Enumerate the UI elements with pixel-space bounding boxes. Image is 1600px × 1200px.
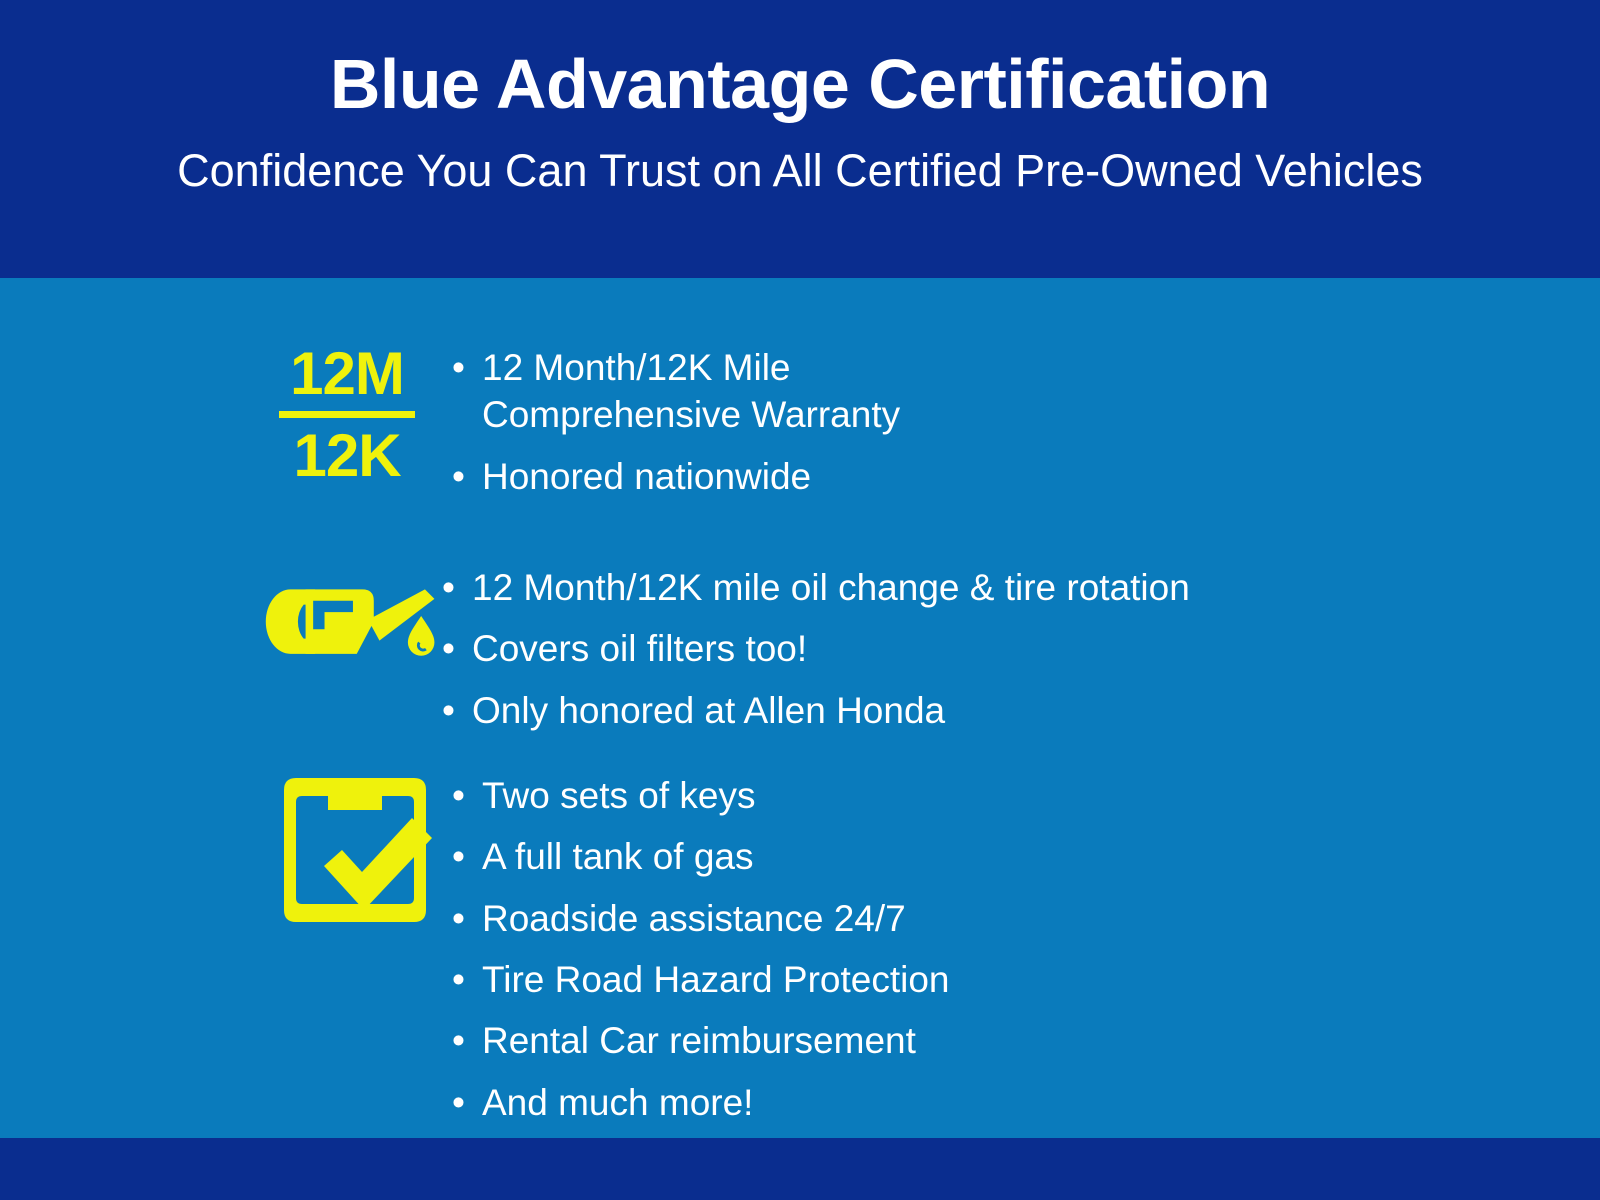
list-item-label: 12 Month/12K Mile Comprehensive Warranty [482,344,900,439]
feature-warranty-icon-cell: 12M 12K [272,340,452,486]
list-item: • 12 Month/12K Mile Comprehensive Warran… [452,344,900,439]
feature-extras-icon-cell [272,768,452,933]
fraction-denominator-label: 12K [293,426,400,486]
list-item: • Rental Car reimbursement [452,1017,950,1064]
list-item-label: 12 Month/12K mile oil change & tire rota… [472,564,1190,611]
list-item-label: Only honored at Allen Honda [472,687,945,734]
features-section: 12M 12K • 12 Month/12K Mile Comprehensiv… [0,278,1600,1138]
fraction-divider-line [279,411,415,418]
list-item: • And much more! [452,1079,950,1126]
bullet-marker: • [452,772,482,819]
list-item: • Covers oil filters too! [442,625,1190,672]
bullet-marker: • [452,344,482,391]
feature-extras-bullets: • Two sets of keys • A full tank of gas … [452,768,950,1140]
list-item: • A full tank of gas [452,833,950,880]
list-item: • Two sets of keys [452,772,950,819]
bullet-marker: • [442,564,472,611]
feature-extras: • Two sets of keys • A full tank of gas … [272,768,950,1140]
header-banner: Blue Advantage Certification Confidence … [0,0,1600,278]
list-item: • Tire Road Hazard Protection [452,956,950,1003]
feature-warranty: 12M 12K • 12 Month/12K Mile Comprehensiv… [272,340,900,514]
list-item-label: And much more! [482,1079,753,1126]
list-item-label: A full tank of gas [482,833,754,880]
bullet-marker: • [452,833,482,880]
list-item-label: Tire Road Hazard Protection [482,956,950,1003]
list-item-label: Two sets of keys [482,772,756,819]
feature-oil-change: • 12 Month/12K mile oil change & tire ro… [262,560,1190,748]
bullet-marker: • [452,1079,482,1126]
bullet-marker: • [442,625,472,672]
page-subtitle: Confidence You Can Trust on All Certifie… [177,146,1423,196]
list-item: • Honored nationwide [452,453,900,500]
footer-banner [0,1138,1600,1200]
bullet-marker: • [452,895,482,942]
feature-oil-change-bullets: • 12 Month/12K mile oil change & tire ro… [442,560,1190,748]
feature-warranty-bullets: • 12 Month/12K Mile Comprehensive Warran… [452,340,900,514]
list-item-label: Roadside assistance 24/7 [482,895,906,942]
page-title: Blue Advantage Certification [330,48,1270,122]
fraction-numerator-label: 12M [290,344,404,404]
twelve-month-twelve-k-fraction-icon: 12M 12K [272,344,422,486]
list-item: • 12 Month/12K mile oil change & tire ro… [442,564,1190,611]
list-item: • Roadside assistance 24/7 [452,895,950,942]
list-item: • Only honored at Allen Honda [442,687,1190,734]
bullet-marker: • [452,956,482,1003]
bullet-marker: • [452,453,482,500]
feature-oil-change-icon-cell [262,560,442,670]
list-item-label: Covers oil filters too! [472,625,807,672]
oil-can-icon [262,560,442,670]
clipboard-checkmark-icon [272,768,442,933]
blue-advantage-certification-poster: Blue Advantage Certification Confidence … [0,0,1600,1200]
bullet-marker: • [442,687,472,734]
list-item-label: Honored nationwide [482,453,811,500]
bullet-marker: • [452,1017,482,1064]
list-item-label: Rental Car reimbursement [482,1017,916,1064]
